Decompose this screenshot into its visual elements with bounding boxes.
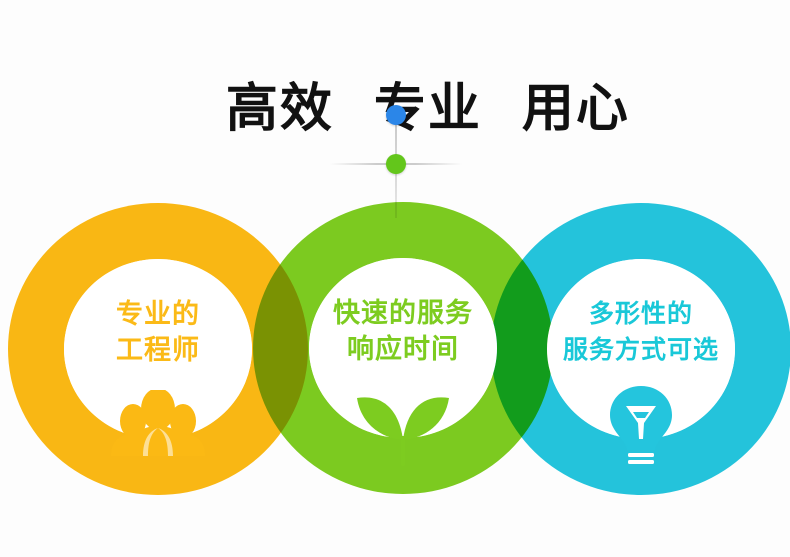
people-group-icon xyxy=(43,384,273,456)
ring-response-line-2: 响应时间 xyxy=(288,331,518,367)
ring-engineers-text: 专业的 工程师 xyxy=(43,296,273,368)
sprout-leaf-icon xyxy=(288,380,518,466)
ring-engineers-line-2: 工程师 xyxy=(43,332,273,368)
ring-service-modes-text: 多形性的 服务方式可选 xyxy=(526,296,756,368)
infographic-canvas: 高效专业用心 专业的 工程师 xyxy=(0,0,790,557)
ring-response-text: 快速的服务 响应时间 xyxy=(288,295,518,367)
ring-service-modes-line-1: 多形性的 xyxy=(526,296,756,332)
ring-engineers-line-1: 专业的 xyxy=(43,296,273,332)
ring-response-line-1: 快速的服务 xyxy=(288,295,518,331)
lightbulb-icon xyxy=(526,384,756,464)
ring-service-modes-line-2: 服务方式可选 xyxy=(526,332,756,368)
